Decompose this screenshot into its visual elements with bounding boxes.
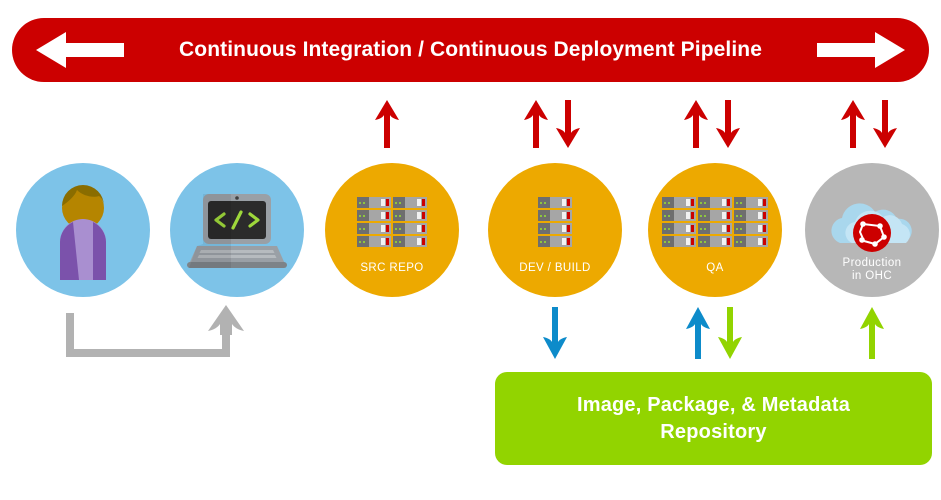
production-label: Production in OHC: [805, 257, 939, 283]
qa-circle: QA: [648, 163, 782, 297]
arrow-down-icon: [542, 307, 568, 359]
arrow-up-icon: [685, 307, 711, 359]
production-circle: Production in OHC: [805, 163, 939, 297]
node-qa[interactable]: QA: [648, 163, 782, 297]
arrow-down-icon: [555, 100, 581, 148]
production-label-line2: in OHC: [805, 270, 939, 283]
src-repo-label: SRC REPO: [325, 262, 459, 275]
dev-build-circle: DEV / BUILD: [488, 163, 622, 297]
node-workstation[interactable]: [170, 163, 304, 297]
developer-circle: [16, 163, 150, 297]
developer-to-workstation-connector: [60, 305, 260, 365]
server-rack-icon: [648, 163, 782, 297]
dev-build-top-arrows: [515, 100, 589, 148]
arrow-down-icon: [872, 100, 898, 148]
arrow-up-icon: [374, 100, 400, 148]
arrow-up-icon: [859, 307, 885, 359]
dev-build-bottom-arrows: [523, 307, 587, 359]
qa-label: QA: [648, 262, 782, 275]
production-bottom-arrows: [840, 307, 904, 359]
arrow-right-icon: [813, 28, 909, 72]
production-top-arrows: [832, 100, 906, 148]
pipeline-banner-title: Continuous Integration / Continuous Depl…: [128, 38, 813, 62]
laptop-code-icon: [170, 163, 304, 297]
qa-bottom-arrows: [678, 307, 750, 359]
dev-build-label: DEV / BUILD: [488, 262, 622, 275]
workstation-circle: [170, 163, 304, 297]
arrow-down-icon: [717, 307, 743, 359]
production-label-line1: Production: [805, 257, 939, 270]
repository-box[interactable]: Image, Package, & Metadata Repository: [495, 372, 932, 465]
arrow-left-icon: [32, 28, 128, 72]
node-dev-build[interactable]: DEV / BUILD: [488, 163, 622, 297]
arrow-up-icon: [840, 100, 866, 148]
node-developer[interactable]: [16, 163, 150, 297]
cicd-pipeline-diagram: Continuous Integration / Continuous Depl…: [0, 0, 941, 500]
repository-label: Image, Package, & Metadata Repository: [577, 392, 850, 446]
qa-top-arrows: [675, 100, 749, 148]
server-rack-icon: [488, 163, 622, 297]
arrow-up-icon: [523, 100, 549, 148]
src-repo-top-arrows: [355, 100, 419, 148]
person-icon: [16, 163, 150, 297]
pipeline-banner: Continuous Integration / Continuous Depl…: [12, 18, 929, 82]
node-src-repo[interactable]: SRC REPO: [325, 163, 459, 297]
arrow-down-icon: [715, 100, 741, 148]
node-production[interactable]: Production in OHC: [805, 163, 939, 297]
server-rack-icon: [325, 163, 459, 297]
src-repo-circle: SRC REPO: [325, 163, 459, 297]
arrow-up-icon: [683, 100, 709, 148]
